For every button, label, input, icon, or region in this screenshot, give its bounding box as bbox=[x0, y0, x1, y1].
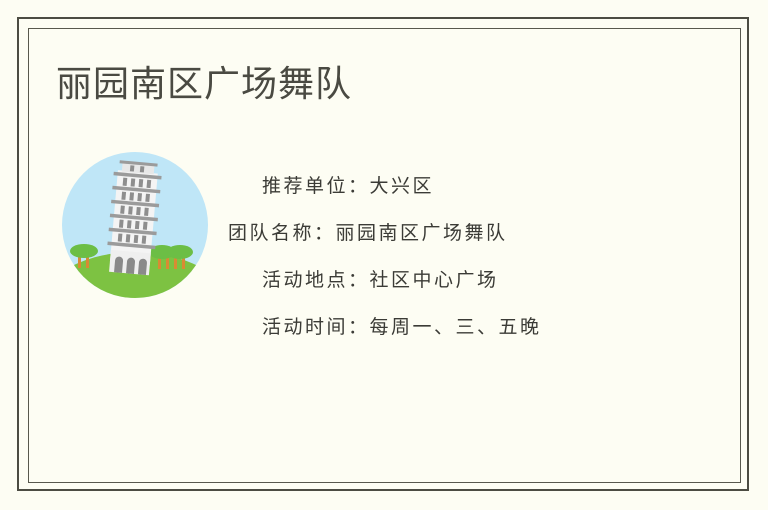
poster-card: 丽园南区广场舞队 bbox=[0, 0, 768, 510]
info-line-recommending-unit: 推荐单位：大兴区 bbox=[228, 163, 620, 210]
page-title: 丽园南区广场舞队 bbox=[56, 62, 352, 106]
leaning-tower-of-pisa-illustration bbox=[62, 152, 208, 298]
info-line-activity-time: 活动时间：每周一、三、五晚 bbox=[228, 304, 620, 351]
info-line-team-name: 团队名称：丽园南区广场舞队 bbox=[228, 210, 620, 257]
info-line-activity-location: 活动地点：社区中心广场 bbox=[228, 257, 620, 304]
info-block: 推荐单位：大兴区 团队名称：丽园南区广场舞队 活动地点：社区中心广场 活动时间：… bbox=[228, 163, 620, 351]
